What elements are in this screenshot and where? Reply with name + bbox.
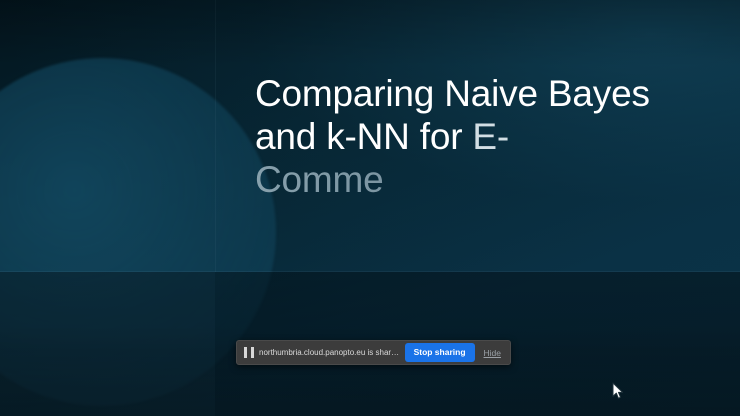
background-lower-band-sheen — [0, 272, 215, 416]
screen-sharing-bar[interactable]: northumbria.cloud.panopto.eu is sharing … — [236, 340, 511, 365]
slide-title: Comparing Naive Bayes and k-NN for E- Co… — [255, 72, 695, 201]
title-line-2: and k-NN for E- — [255, 115, 695, 158]
title-line-2-lead: and k-NN for — [255, 116, 472, 157]
stop-sharing-button[interactable]: Stop sharing — [405, 343, 475, 362]
title-line-3-partial: Comme — [255, 158, 695, 201]
title-line-1: Comparing Naive Bayes — [255, 72, 695, 115]
sharing-message: northumbria.cloud.panopto.eu is sharing … — [259, 348, 400, 358]
hide-link[interactable]: Hide — [484, 348, 501, 358]
screen-share-pause-icon — [244, 347, 254, 358]
screen-capture-frame: Comparing Naive Bayes and k-NN for E- Co… — [0, 0, 740, 416]
title-line-2-tail: E- — [472, 116, 509, 157]
background-vertical-edge — [215, 0, 216, 272]
